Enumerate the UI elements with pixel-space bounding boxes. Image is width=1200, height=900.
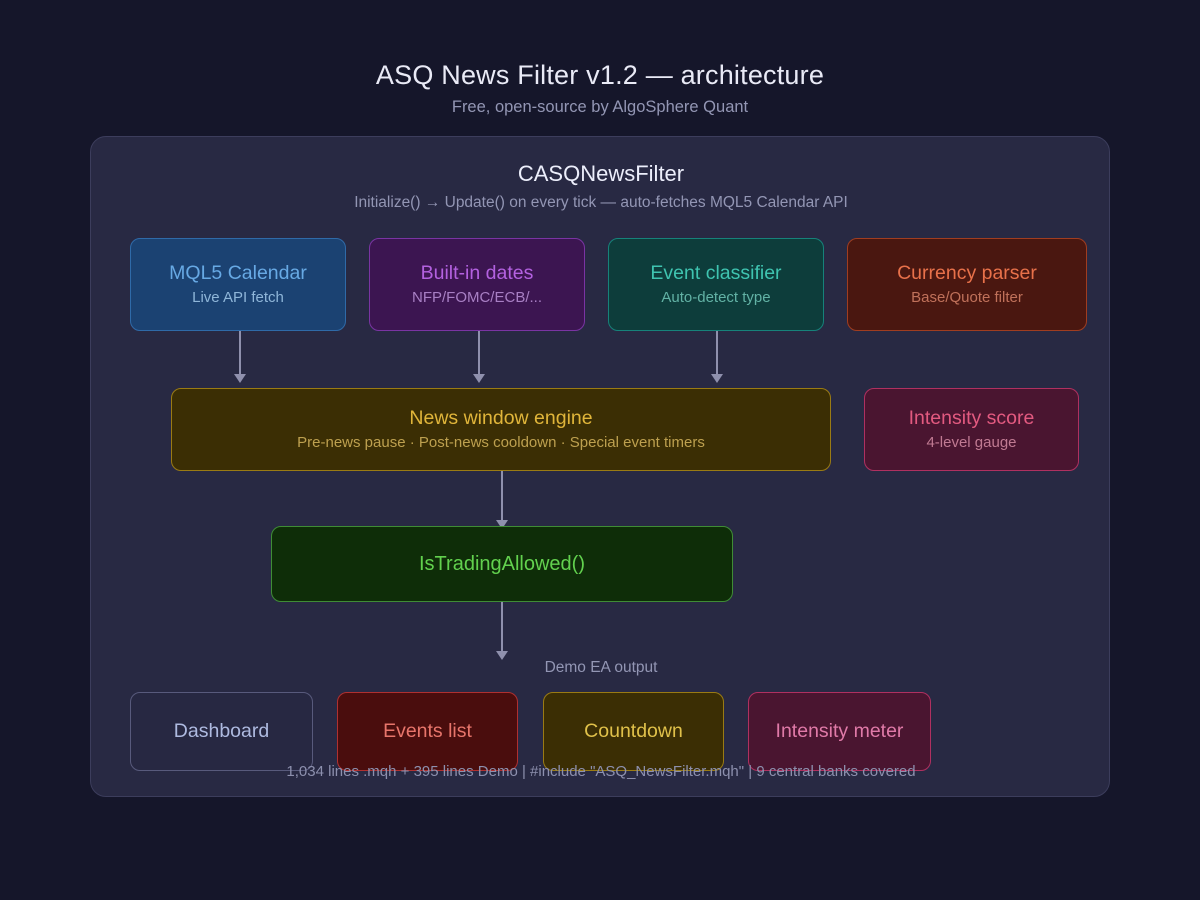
node-title: IsTradingAllowed()	[419, 553, 585, 576]
node-intensity-score[interactable]: Intensity score 4-level gauge	[864, 388, 1079, 471]
node-news-window-engine[interactable]: News window engine Pre-news pause · Post…	[171, 388, 831, 471]
node-title: News window engine	[409, 407, 592, 429]
node-event-classifier[interactable]: Event classifier Auto-detect type	[608, 238, 824, 331]
node-subtitle: Base/Quote filter	[911, 289, 1023, 307]
node-subtitle: Auto-detect type	[661, 289, 770, 307]
node-title: MQL5 Calendar	[169, 262, 307, 284]
panel-title: CASQNewsFilter	[91, 161, 1111, 187]
architecture-panel: CASQNewsFilter Initialize() → Update() o…	[90, 136, 1110, 797]
panel-footer: 1,034 lines .mqh + 395 lines Demo | #inc…	[91, 763, 1111, 780]
node-mql5-calendar[interactable]: MQL5 Calendar Live API fetch	[130, 238, 346, 331]
node-output-countdown[interactable]: Countdown	[543, 692, 724, 771]
node-title: Intensity meter	[776, 720, 904, 742]
node-title: Dashboard	[174, 720, 269, 742]
page-title: ASQ News Filter v1.2 — architecture	[0, 60, 1200, 91]
flow-label-demo-output: Demo EA output	[91, 659, 1111, 677]
diagram-canvas: ASQ News Filter v1.2 — architecture Free…	[0, 0, 1200, 900]
node-subtitle: Pre-news pause · Post-news cooldown · Sp…	[297, 434, 705, 452]
node-subtitle: NFP/FOMC/ECB/...	[412, 289, 542, 307]
panel-subtitle: Initialize() → Update() on every tick — …	[91, 194, 1111, 212]
node-subtitle: 4-level gauge	[926, 434, 1016, 452]
node-title: Currency parser	[897, 262, 1037, 284]
node-output-events-list[interactable]: Events list	[337, 692, 518, 771]
node-subtitle: Live API fetch	[192, 289, 284, 307]
node-builtin-dates[interactable]: Built-in dates NFP/FOMC/ECB/...	[369, 238, 585, 331]
node-currency-parser[interactable]: Currency parser Base/Quote filter	[847, 238, 1087, 331]
node-title: Event classifier	[650, 262, 781, 284]
node-is-trading-allowed[interactable]: IsTradingAllowed()	[271, 526, 733, 602]
node-title: Events list	[383, 720, 472, 742]
node-output-dashboard[interactable]: Dashboard	[130, 692, 313, 771]
node-title: Intensity score	[909, 407, 1035, 429]
node-title: Countdown	[584, 720, 683, 742]
node-output-intensity-meter[interactable]: Intensity meter	[748, 692, 931, 771]
node-title: Built-in dates	[421, 262, 534, 284]
page-subtitle: Free, open-source by AlgoSphere Quant	[0, 98, 1200, 117]
